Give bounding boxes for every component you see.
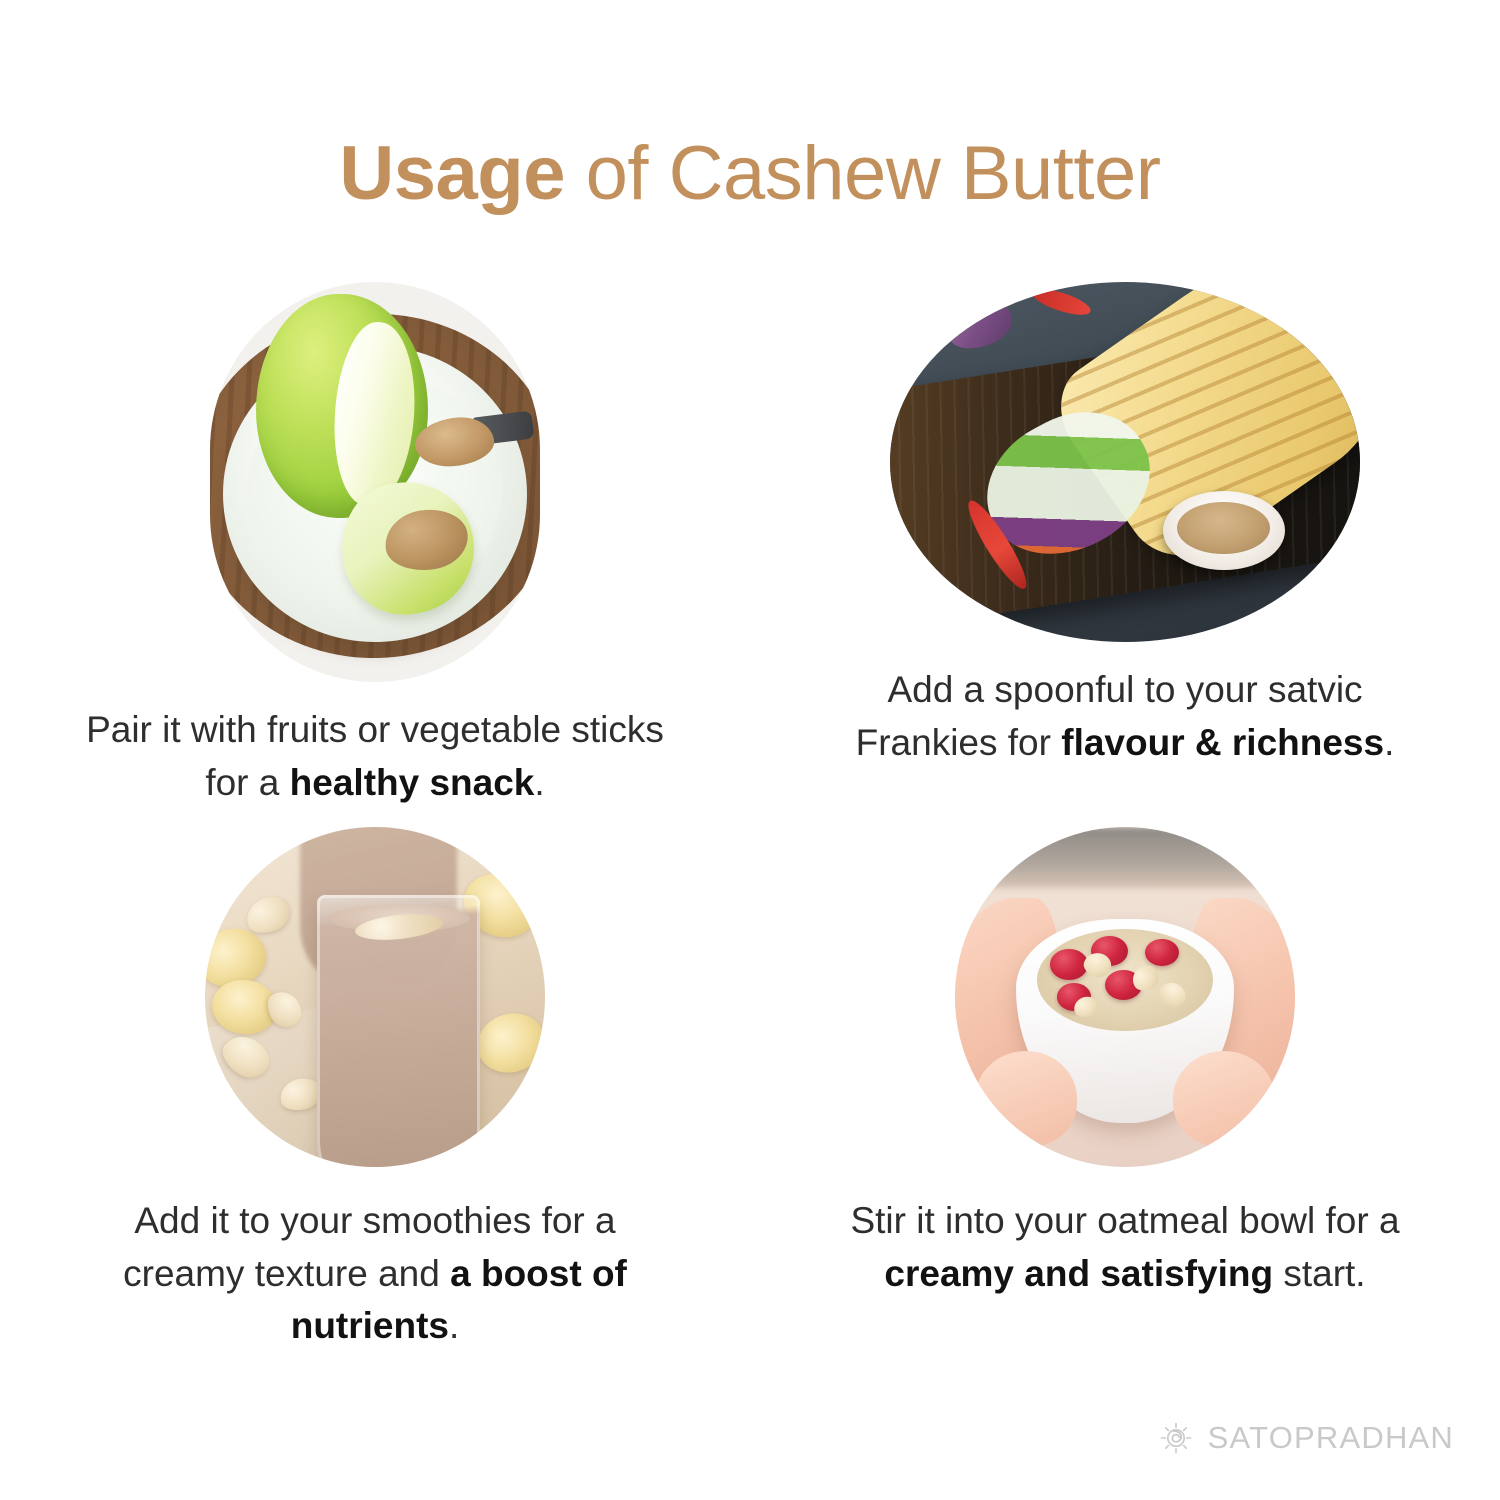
usage-card-4: Stir it into your oatmeal bowl for a cre… [750,827,1500,1372]
card-4-caption-pre: Stir it into your oatmeal bowl for a [850,1200,1399,1241]
card-4-caption-bold: creamy and satisfying [884,1253,1273,1294]
left-fingers-shape [975,1051,1077,1146]
card-4-caption: Stir it into your oatmeal bowl for a cre… [825,1195,1425,1300]
card-1-caption: Pair it with fruits or vegetable sticks … [75,704,675,809]
apple-slices-with-cashew-butter-photo [210,282,540,682]
card-4-caption-post: start. [1273,1253,1366,1294]
card-1-caption-bold: healthy snack [290,762,535,803]
card-2-photo-wrap [750,282,1500,642]
page-title-light: of Cashew Butter [565,131,1161,216]
satvic-frankie-wrap-with-cashew-butter-photo [890,282,1360,642]
frankie-scene [890,282,1360,642]
page-title-strong: Usage [339,131,565,216]
card-1-photo-wrap [0,282,750,682]
oatmeal-bowl-with-raspberries-photo [955,827,1295,1167]
card-3-caption-post: . [449,1305,459,1346]
usage-card-2: Add a spoonful to your satvic Frankies f… [750,282,1500,827]
card-4-photo-wrap [750,827,1500,1167]
brand-logo: SATOPRADHAN [1156,1418,1454,1458]
usage-card-3: Add it to your smoothies for a creamy te… [0,827,750,1372]
usage-card-1: Pair it with fruits or vegetable sticks … [0,282,750,827]
card-3-caption: Add it to your smoothies for a creamy te… [75,1195,675,1353]
usage-cards-grid: Pair it with fruits or vegetable sticks … [0,282,1500,1372]
card-3-photo-wrap [0,827,750,1167]
cashew-butter-bowl-shape [1163,491,1285,570]
apple-scene [210,282,540,682]
card-1-caption-post: . [534,762,544,803]
oatmeal-scene [955,827,1295,1167]
page-title: Usage of Cashew Butter [0,132,1500,216]
card-2-caption: Add a spoonful to your satvic Frankies f… [825,664,1425,769]
cashew-banana-smoothie-glass-photo [205,827,545,1167]
infographic-page: Usage of Cashew Butter [0,0,1500,1500]
brand-logo-text: SATOPRADHAN [1208,1420,1454,1456]
smoothie-scene [205,827,545,1167]
background-blur-band [955,827,1295,888]
card-2-caption-bold: flavour & richness [1061,722,1384,763]
raspberry-1 [1050,949,1087,980]
card-2-caption-post: . [1384,722,1394,763]
right-fingers-shape [1173,1051,1275,1146]
sun-spiral-icon [1156,1418,1196,1458]
